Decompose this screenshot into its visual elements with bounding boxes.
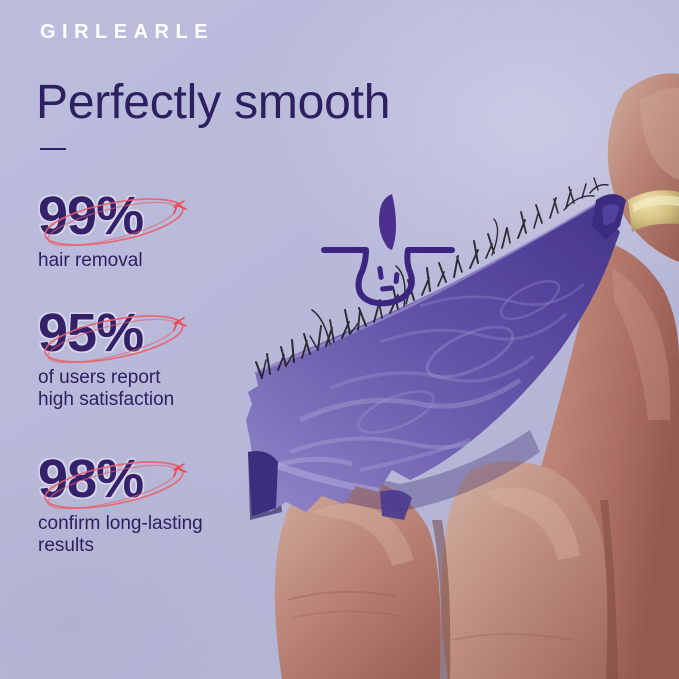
wax-shadow (248, 448, 282, 520)
hair-follicle-icon (318, 192, 458, 307)
stat-caption: confirm long-lasting results (38, 513, 203, 557)
stat-value: 99% (38, 189, 143, 243)
stat-block-2: 95% of users report high satisfaction (38, 306, 174, 411)
page-title: Perfectly smooth (36, 78, 390, 128)
stat-figure: 95% (38, 306, 143, 360)
stat-value: 98% (38, 452, 143, 506)
advertisement-canvas: GIRLEARLE Perfectly smooth 99% hair remo… (0, 0, 679, 679)
stat-value: 95% (38, 306, 143, 360)
stat-caption: hair removal (38, 250, 143, 272)
brand-name: GIRLEARLE (40, 22, 214, 42)
stat-block-1: 99% hair removal (38, 189, 143, 272)
stat-figure: 98% (38, 452, 143, 506)
stat-block-3: 98% confirm long-lasting results (38, 452, 203, 557)
stat-figure: 99% (38, 189, 143, 243)
stat-caption: of users report high satisfaction (38, 367, 174, 411)
headline-divider (40, 148, 66, 150)
ring (628, 190, 679, 232)
